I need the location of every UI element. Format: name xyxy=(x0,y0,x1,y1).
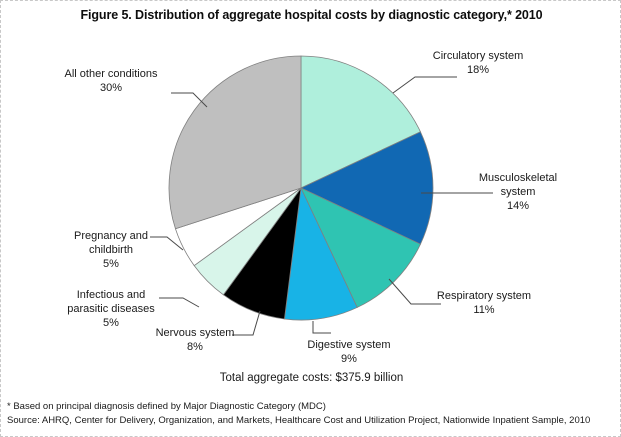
slice-label-infectious: Infectious and parasitic diseases 5% xyxy=(47,288,175,330)
slice-label-all-other: All other conditions 30% xyxy=(36,67,186,95)
page-title: Figure 5. Distribution of aggregate hosp… xyxy=(1,8,621,22)
slice-label-pregnancy-name2: childbirth xyxy=(89,244,133,256)
slice-label-all-other-name: All other conditions xyxy=(65,68,158,80)
slice-label-nervous-pct: 8% xyxy=(141,340,249,354)
footnote-source: Source: AHRQ, Center for Delivery, Organ… xyxy=(7,414,619,428)
slice-label-musculoskeletal-name2: system xyxy=(501,186,536,198)
slice-label-all-other-pct: 30% xyxy=(36,81,186,95)
figure-container: Figure 5. Distribution of aggregate hosp… xyxy=(0,0,621,437)
slice-label-pregnancy: Pregnancy and childbirth 5% xyxy=(56,229,166,271)
slice-label-circulatory-name: Circulatory system xyxy=(433,50,523,62)
slice-label-circulatory-pct: 18% xyxy=(418,63,538,77)
slice-label-infectious-name2: parasitic diseases xyxy=(67,303,154,315)
slice-label-digestive: Digestive system 9% xyxy=(289,338,409,366)
slice-label-digestive-pct: 9% xyxy=(289,352,409,366)
leader-line-digestive xyxy=(313,321,331,333)
pie-chart xyxy=(168,55,434,321)
slice-label-digestive-name: Digestive system xyxy=(307,339,390,351)
slice-label-nervous-name: Nervous system xyxy=(156,327,235,339)
slice-label-infectious-name: Infectious and xyxy=(77,289,146,301)
pie-chart-svg xyxy=(168,55,434,321)
slice-label-respiratory-pct: 11% xyxy=(421,303,547,317)
slice-label-pregnancy-name: Pregnancy and xyxy=(74,230,148,242)
slice-label-musculoskeletal: Musculoskeletal system 14% xyxy=(463,171,573,213)
slice-label-musculoskeletal-pct: 14% xyxy=(463,199,573,213)
slice-label-nervous: Nervous system 8% xyxy=(141,326,249,354)
slice-label-respiratory: Respiratory system 11% xyxy=(421,289,547,317)
total-aggregate-costs: Total aggregate costs: $375.9 billion xyxy=(1,372,621,384)
slice-label-musculoskeletal-name: Musculoskeletal xyxy=(479,172,557,184)
slice-label-pregnancy-pct: 5% xyxy=(56,257,166,271)
slice-label-respiratory-name: Respiratory system xyxy=(437,290,531,302)
footnotes: * Based on principal diagnosis defined b… xyxy=(7,400,619,428)
footnote-asterisk: * Based on principal diagnosis defined b… xyxy=(7,400,619,414)
slice-label-circulatory: Circulatory system 18% xyxy=(418,49,538,77)
